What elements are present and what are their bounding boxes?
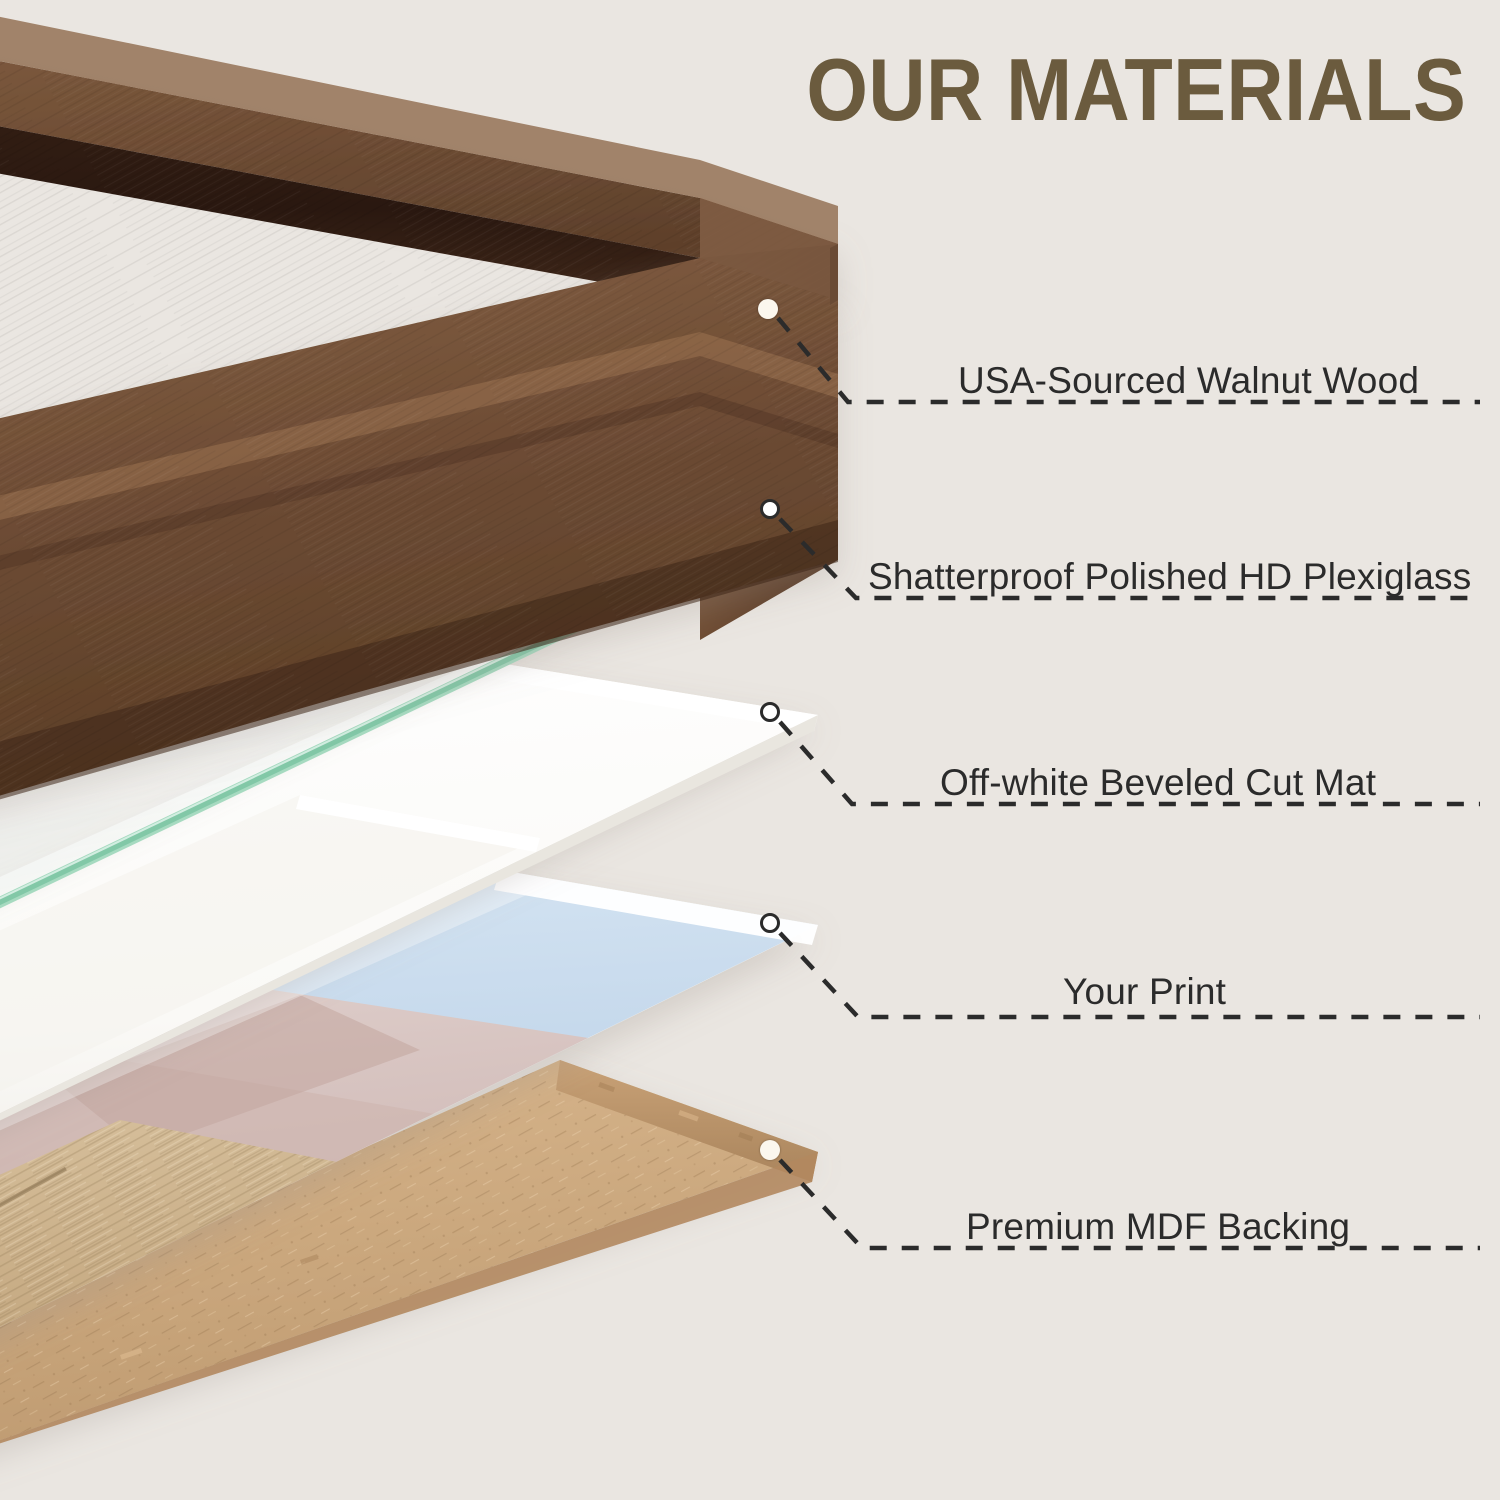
exploded-frame-illustration [0, 0, 1500, 1500]
page-title: OUR MATERIALS [806, 46, 1466, 134]
materials-infographic: OUR MATERIALS USA-Sourced Walnut Wood Sh… [0, 0, 1500, 1500]
